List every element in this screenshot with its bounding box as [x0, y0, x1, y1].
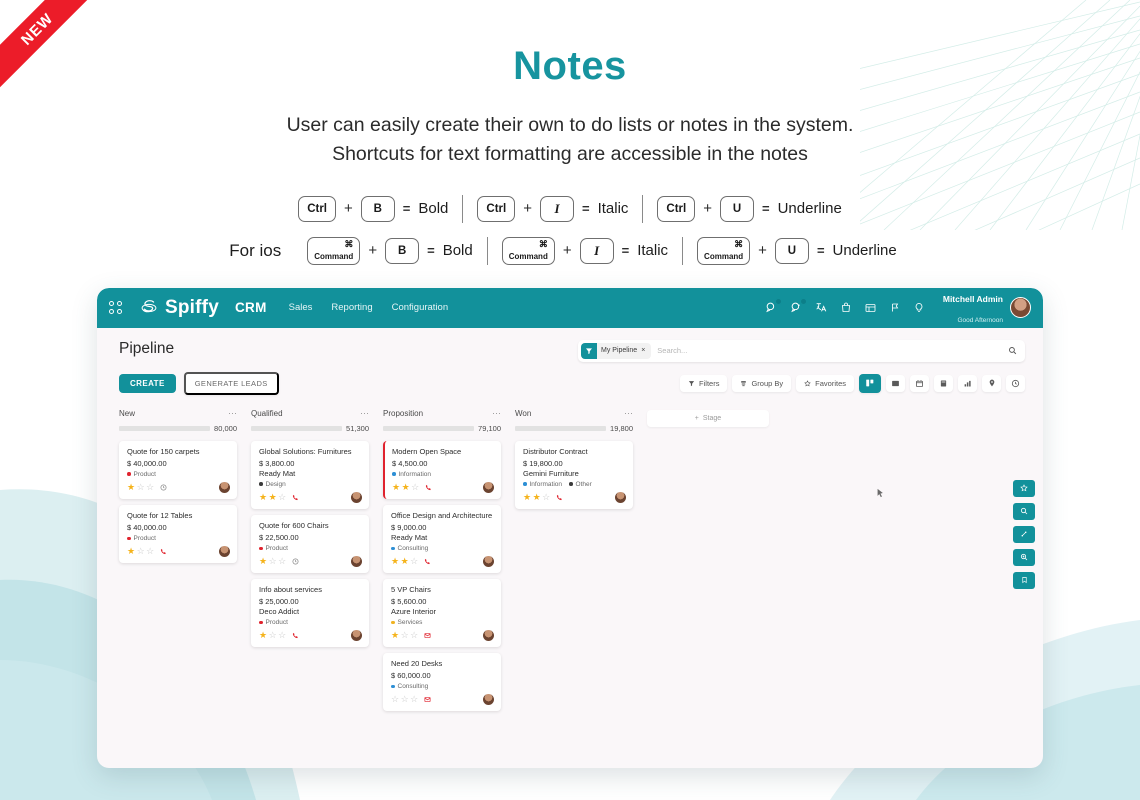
kanban-card[interactable]: Need 20 Desks $ 60,000.00 Consulting ☆☆☆	[383, 653, 501, 711]
kanban-card[interactable]: 5 VP Chairs $ 5,600.00 Azure Interior Se…	[383, 579, 501, 647]
expand-icon	[1020, 530, 1028, 538]
app-bar-actions: Mitchell Admin Good Afternoon	[765, 288, 1031, 328]
tag-label: Product	[266, 545, 288, 552]
star-icon[interactable]: ☆	[278, 631, 286, 640]
kanban-view-button[interactable]	[859, 374, 881, 393]
star-icon[interactable]: ★	[259, 493, 267, 502]
kanban-card[interactable]: Modern Open Space $ 4,500.00 Information…	[383, 441, 501, 499]
activity-phone-icon[interactable]	[292, 632, 299, 639]
column-cards: Modern Open Space $ 4,500.00 Information…	[383, 441, 501, 712]
star-icon[interactable]: ☆	[401, 631, 409, 640]
kanban-card[interactable]: Distributor Contract $ 19,800.00 Gemini …	[515, 441, 633, 509]
column-progress: 79,100	[383, 424, 501, 433]
page-subtitle-line-2: Shortcuts for text formatting are access…	[0, 140, 1140, 169]
column-total: 19,800	[610, 424, 633, 433]
avatar[interactable]	[483, 630, 494, 641]
tag-dot-icon	[127, 472, 131, 476]
card-tag: Product	[259, 545, 288, 552]
priority-stars[interactable]: ☆☆☆	[391, 695, 418, 704]
shortcut-italic-windows: Ctrl + I = Italic	[463, 196, 642, 222]
column-name: Proposition	[383, 409, 423, 418]
column-header: Won ⋯	[515, 409, 633, 418]
tag-label: Product	[134, 535, 156, 542]
favorites-button[interactable]: Favorites	[796, 375, 854, 392]
search-facet-my-pipeline[interactable]: My Pipeline ×	[581, 343, 651, 359]
shortcut-bold-windows: Ctrl + B = Bold	[284, 196, 462, 222]
user-text: Mitchell Admin Good Afternoon	[943, 288, 1003, 328]
activity-mail-icon[interactable]	[424, 696, 431, 703]
key-command-label: Command	[509, 252, 548, 261]
star-icon[interactable]: ☆	[278, 493, 286, 502]
translate-icon[interactable]	[815, 301, 828, 314]
tag-dot-icon	[391, 621, 395, 625]
card-partner: Ready Mat	[259, 469, 362, 478]
graph-view-button[interactable]	[958, 375, 977, 392]
column-menu-icon[interactable]: ⋯	[492, 409, 501, 418]
flag-icon[interactable]	[889, 301, 901, 314]
card-footer: ★★☆	[523, 492, 626, 503]
card-tags: Product	[259, 545, 362, 552]
shortcut-result-underline: Underline	[833, 242, 897, 259]
star-icon[interactable]: ★	[127, 547, 135, 556]
shortcut-result-bold: Bold	[418, 200, 448, 217]
brand-logo[interactable]: Spiffy	[138, 297, 219, 319]
star-icon[interactable]: ☆	[391, 695, 399, 704]
star-icon[interactable]: ★	[401, 557, 409, 566]
star-icon[interactable]: ★	[269, 493, 277, 502]
card-footer: ★☆☆	[259, 556, 362, 567]
search-icon	[1020, 507, 1028, 515]
kanban-board: New ⋯ 80,000 Quote for 150 carpets $ 40,…	[119, 409, 1025, 712]
search-icon[interactable]	[1008, 346, 1017, 355]
shortcut-underline-ios: ⌘ Command + U = Underline	[683, 237, 911, 265]
column-total: 79,100	[478, 424, 501, 433]
tag-dot-icon	[523, 482, 527, 486]
menu-item-configuration[interactable]: Configuration	[392, 302, 449, 313]
star-icon[interactable]: ☆	[269, 557, 277, 566]
card-tag: Design	[259, 481, 286, 488]
apps-grid-icon[interactable]	[109, 301, 124, 314]
star-icon[interactable]: ☆	[410, 695, 418, 704]
tag-label: Consulting	[398, 545, 429, 552]
page-header: Notes User can easily create their own t…	[0, 0, 1140, 170]
activity-mail-icon[interactable]	[424, 632, 431, 639]
menu-item-reporting[interactable]: Reporting	[331, 302, 372, 313]
tag-label: Other	[576, 481, 592, 488]
kanban-column-won: Won ⋯ 19,800 Distributor Contract $ 19,8…	[515, 409, 633, 509]
shortcut-row-windows: Ctrl + B = Bold Ctrl + I = Italic Ctrl +…	[0, 188, 1140, 230]
star-icon[interactable]: ★	[391, 631, 399, 640]
activities-icon[interactable]	[790, 301, 803, 314]
card-amount: $ 9,000.00	[391, 523, 494, 532]
card-amount: $ 40,000.00	[127, 523, 230, 532]
create-button[interactable]: CREATE	[119, 374, 176, 393]
add-stage-label: Stage	[703, 415, 721, 422]
card-footer: ★☆☆	[391, 630, 494, 641]
card-partner: Gemini Furniture	[523, 469, 626, 478]
card-title: Modern Open Space	[392, 447, 494, 457]
view-toolbar: Filters Group By Favorites	[680, 374, 1025, 393]
rail-search-button[interactable]	[1013, 503, 1035, 520]
equals-sign: =	[817, 243, 825, 258]
tag-dot-icon	[259, 621, 263, 625]
tag-label: Information	[530, 481, 563, 488]
rail-bookmark-button[interactable]	[1013, 572, 1035, 589]
activity-view-button[interactable]	[1006, 375, 1025, 392]
priority-stars[interactable]: ★★☆	[259, 493, 286, 502]
list-view-button[interactable]	[886, 375, 905, 392]
column-header: Proposition ⋯	[383, 409, 501, 418]
rail-zoom-button[interactable]	[1013, 549, 1035, 566]
card-tag: Consulting	[391, 683, 428, 690]
plus-sign: +	[703, 200, 712, 217]
card-title: Quote for 600 Chairs	[259, 521, 362, 531]
avatar[interactable]	[1010, 297, 1031, 318]
tag-label: Design	[266, 481, 286, 488]
star-icon[interactable]: ☆	[137, 483, 145, 492]
activity-clock-icon[interactable]	[160, 484, 167, 491]
clock-icon	[1011, 379, 1020, 388]
shortcut-legend: Ctrl + B = Bold Ctrl + I = Italic Ctrl +…	[0, 188, 1140, 272]
card-footer: ★☆☆	[259, 630, 362, 641]
app-top-bar: Spiffy CRM Sales Reporting Configuration	[97, 288, 1043, 328]
badge	[800, 298, 807, 305]
key-command: ⌘ Command	[307, 237, 360, 265]
star-icon[interactable]: ★	[392, 483, 400, 492]
key-b: B	[361, 196, 395, 222]
star-icon[interactable]: ★	[259, 631, 267, 640]
card-amount: $ 60,000.00	[391, 671, 494, 680]
shortcut-result-underline: Underline	[778, 200, 842, 217]
calendar-view-button[interactable]	[910, 375, 929, 392]
card-amount: $ 25,000.00	[259, 597, 362, 606]
equals-sign: =	[622, 243, 630, 258]
app-window: Spiffy CRM Sales Reporting Configuration	[97, 288, 1043, 768]
favorites-label: Favorites	[815, 379, 846, 388]
column-cards: Global Solutions: Furnitures $ 3,800.00 …	[251, 441, 369, 647]
plus-sign: +	[523, 200, 532, 217]
key-i: I	[540, 196, 574, 222]
priority-stars[interactable]: ★☆☆	[259, 631, 286, 640]
rail-expand-button[interactable]	[1013, 526, 1035, 543]
new-ribbon: NEW	[0, 0, 92, 92]
star-icon[interactable]: ★	[259, 557, 267, 566]
map-view-button[interactable]	[982, 375, 1001, 392]
card-tag: Consulting	[391, 545, 428, 552]
column-total: 51,300	[346, 424, 369, 433]
star-icon[interactable]: ☆	[137, 547, 145, 556]
priority-stars[interactable]: ★★☆	[523, 493, 550, 502]
card-title: 5 VP Chairs	[391, 585, 494, 595]
key-ctrl: Ctrl	[657, 196, 695, 222]
avatar[interactable]	[351, 492, 362, 503]
shortcut-result-italic: Italic	[637, 242, 668, 259]
card-footer: ☆☆☆	[391, 694, 494, 705]
generate-leads-button[interactable]: GENERATE LEADS	[184, 372, 279, 395]
shortcut-row-ios: For ios ⌘ Command + B = Bold ⌘ Command +…	[0, 230, 1140, 272]
plus-sign: +	[563, 242, 572, 259]
column-cards: Distributor Contract $ 19,800.00 Gemini …	[515, 441, 633, 509]
user-menu[interactable]: Mitchell Admin Good Afternoon	[943, 288, 1031, 328]
plus-icon: +	[695, 415, 699, 422]
card-amount: $ 4,500.00	[392, 459, 494, 468]
plus-sign: +	[344, 200, 353, 217]
menu-item-sales[interactable]: Sales	[289, 302, 313, 313]
priority-stars[interactable]: ★☆☆	[127, 547, 154, 556]
avatar[interactable]	[351, 556, 362, 567]
filters-button[interactable]: Filters	[680, 375, 727, 392]
kanban-card[interactable]: Info about services $ 25,000.00 Deco Add…	[251, 579, 369, 647]
kanban-card[interactable]: Global Solutions: Furnitures $ 3,800.00 …	[251, 441, 369, 509]
grid-view-icon[interactable]	[864, 302, 877, 314]
progress-track	[383, 426, 474, 431]
card-footer: ★★☆	[392, 482, 494, 493]
priority-stars[interactable]: ★☆☆	[127, 483, 154, 492]
group-by-button[interactable]: Group By	[732, 375, 791, 392]
card-tag: Information	[523, 481, 562, 488]
tag-dot-icon	[392, 472, 396, 476]
ios-prefix-label: For ios	[229, 241, 281, 261]
key-command-label: Command	[704, 252, 743, 261]
star-icon[interactable]: ★	[523, 493, 531, 502]
card-footer: ★☆☆	[127, 482, 230, 493]
card-tags: Information Other	[523, 481, 626, 488]
kanban-icon	[865, 378, 875, 388]
equals-sign: =	[427, 243, 435, 258]
card-amount: $ 19,800.00	[523, 459, 626, 468]
card-tags: Consulting	[391, 545, 494, 552]
tag-label: Consulting	[398, 683, 429, 690]
badge	[775, 298, 782, 305]
activity-phone-icon[interactable]	[556, 494, 563, 501]
card-amount: $ 5,600.00	[391, 597, 494, 606]
app-menu: Sales Reporting Configuration	[289, 302, 448, 313]
equals-sign: =	[582, 201, 590, 216]
facet-remove-icon[interactable]: ×	[641, 347, 645, 354]
star-icon[interactable]: ☆	[278, 557, 286, 566]
star-icon[interactable]: ☆	[410, 557, 418, 566]
key-ctrl: Ctrl	[298, 196, 336, 222]
kanban-card[interactable]: Quote for 150 carpets $ 40,000.00 Produc…	[119, 441, 237, 499]
card-tags: Product	[127, 471, 230, 478]
plus-sign: +	[368, 242, 377, 259]
card-amount: $ 3,800.00	[259, 459, 362, 468]
card-partner: Ready Mat	[391, 533, 494, 542]
search-input[interactable]: Search...	[657, 346, 1008, 355]
column-total: 80,000	[214, 424, 237, 433]
plus-sign: +	[758, 242, 767, 259]
action-toolbar-row: CREATE GENERATE LEADS Filters Group By F…	[119, 372, 1025, 395]
progress-track	[515, 426, 606, 431]
card-tags: Information	[392, 471, 494, 478]
tag-label: Services	[398, 619, 423, 626]
tag-dot-icon	[259, 547, 263, 551]
side-action-rail	[1013, 480, 1035, 589]
avatar[interactable]	[351, 630, 362, 641]
pivot-view-button[interactable]	[934, 375, 953, 392]
star-icon[interactable]: ★	[391, 557, 399, 566]
column-menu-icon[interactable]: ⋯	[228, 409, 237, 418]
card-footer: ★★☆	[391, 556, 494, 567]
card-tag: Services	[391, 619, 422, 626]
key-command: ⌘ Command	[697, 237, 750, 265]
card-title: Quote for 150 carpets	[127, 447, 230, 457]
mouse-cursor	[877, 488, 884, 500]
kanban-column-new: New ⋯ 80,000 Quote for 150 carpets $ 40,…	[119, 409, 237, 563]
activity-phone-icon[interactable]	[160, 548, 167, 555]
priority-stars[interactable]: ★☆☆	[259, 557, 286, 566]
activity-phone-icon[interactable]	[292, 494, 299, 501]
card-footer: ★☆☆	[127, 546, 230, 557]
column-menu-icon[interactable]: ⋯	[360, 409, 369, 418]
app-body: Pipeline My Pipeline × Search... CR	[97, 328, 1043, 768]
column-menu-icon[interactable]: ⋯	[624, 409, 633, 418]
shopping-bag-icon[interactable]	[840, 301, 852, 314]
tag-label: Product	[134, 471, 156, 478]
column-name: Won	[515, 409, 531, 418]
lightbulb-icon[interactable]	[913, 301, 925, 314]
tag-label: Product	[266, 619, 288, 626]
shortcut-result-italic: Italic	[598, 200, 629, 217]
kanban-card[interactable]: Quote for 600 Chairs $ 22,500.00 Product…	[251, 515, 369, 573]
rail-star-button[interactable]	[1013, 480, 1035, 497]
command-glyph-icon: ⌘	[344, 239, 353, 250]
command-glyph-icon: ⌘	[734, 239, 743, 250]
brand-name: Spiffy	[165, 297, 219, 319]
card-footer: ★★☆	[259, 492, 362, 503]
card-amount: $ 40,000.00	[127, 459, 230, 468]
card-tag: Product	[259, 619, 288, 626]
bookmark-icon	[1021, 576, 1028, 584]
equals-sign: =	[762, 201, 770, 216]
avatar[interactable]	[483, 694, 494, 705]
card-tags: Product	[127, 535, 230, 542]
page-title: Notes	[0, 44, 1140, 89]
star-icon[interactable]: ★	[533, 493, 541, 502]
add-stage-column: + Stage	[647, 409, 769, 427]
messages-icon[interactable]	[765, 301, 778, 314]
star-icon[interactable]: ☆	[269, 631, 277, 640]
shortcut-result-bold: Bold	[443, 242, 473, 259]
add-stage-button[interactable]: + Stage	[647, 410, 769, 427]
tag-dot-icon	[391, 547, 395, 551]
progress-track	[119, 426, 210, 431]
tag-dot-icon	[391, 685, 395, 689]
search-bar[interactable]: My Pipeline × Search...	[578, 340, 1025, 362]
calendar-icon	[915, 379, 924, 388]
column-header: New ⋯	[119, 409, 237, 418]
card-tag: Product	[127, 471, 156, 478]
avatar[interactable]	[219, 546, 230, 557]
priority-stars[interactable]: ★☆☆	[391, 631, 418, 640]
shortcut-italic-ios: ⌘ Command + I = Italic	[488, 237, 682, 265]
progress-track	[251, 426, 342, 431]
star-icon[interactable]: ★	[127, 483, 135, 492]
filters-label: Filters	[699, 379, 719, 388]
star-icon[interactable]: ☆	[542, 493, 550, 502]
activity-clock-icon[interactable]	[292, 558, 299, 565]
filter-icon	[688, 380, 695, 387]
card-title: Office Design and Architecture	[391, 511, 494, 521]
pivot-icon	[939, 379, 948, 388]
user-greeting: Good Afternoon	[957, 317, 1003, 324]
priority-stars[interactable]: ★★☆	[391, 557, 418, 566]
star-icon	[1020, 484, 1028, 492]
star-icon[interactable]: ☆	[146, 547, 154, 556]
card-title: Global Solutions: Furnitures	[259, 447, 362, 457]
kanban-column-proposition: Proposition ⋯ 79,100 Modern Open Space $…	[383, 409, 501, 712]
activity-phone-icon[interactable]	[424, 558, 431, 565]
map-pin-icon	[988, 378, 996, 388]
group-by-label: Group By	[751, 379, 783, 388]
card-tags: Product	[259, 619, 362, 626]
card-partner: Deco Addict	[259, 607, 362, 616]
page-subtitle-line-1: User can easily create their own to do l…	[0, 111, 1140, 140]
new-ribbon-label: NEW	[0, 0, 92, 92]
key-i: I	[580, 238, 614, 264]
filter-icon	[581, 343, 597, 359]
column-name: Qualified	[251, 409, 283, 418]
group-by-icon	[740, 380, 747, 387]
user-name: Mitchell Admin	[943, 294, 1003, 304]
equals-sign: =	[403, 201, 411, 216]
key-u: U	[775, 238, 809, 264]
card-tag: Product	[127, 535, 156, 542]
spiffy-logo-icon	[138, 297, 160, 319]
star-icon[interactable]: ☆	[411, 483, 419, 492]
avatar[interactable]	[219, 482, 230, 493]
shortcut-underline-windows: Ctrl + U = Underline	[643, 196, 855, 222]
star-icon	[804, 380, 811, 387]
kanban-card[interactable]: Office Design and Architecture $ 9,000.0…	[383, 505, 501, 573]
key-b: B	[385, 238, 419, 264]
card-tags: Consulting	[391, 683, 494, 690]
star-icon[interactable]: ☆	[146, 483, 154, 492]
page-subtitle: User can easily create their own to do l…	[0, 111, 1140, 170]
column-cards: Quote for 150 carpets $ 40,000.00 Produc…	[119, 441, 237, 563]
avatar[interactable]	[615, 492, 626, 503]
card-amount: $ 22,500.00	[259, 533, 362, 542]
card-title: Quote for 12 Tables	[127, 511, 230, 521]
priority-stars[interactable]: ★★☆	[392, 483, 419, 492]
page-title: Pipeline	[119, 340, 174, 358]
column-header: Qualified ⋯	[251, 409, 369, 418]
module-name: CRM	[235, 300, 267, 315]
view-header-row: Pipeline My Pipeline × Search...	[119, 340, 1025, 362]
card-title: Info about services	[259, 585, 362, 595]
card-title: Distributor Contract	[523, 447, 626, 457]
column-progress: 19,800	[515, 424, 633, 433]
star-icon[interactable]: ☆	[410, 631, 418, 640]
avatar[interactable]	[483, 482, 494, 493]
shortcut-bold-ios: ⌘ Command + B = Bold	[293, 237, 487, 265]
star-icon[interactable]: ☆	[401, 695, 409, 704]
card-tag: Other	[569, 481, 592, 488]
key-command-label: Command	[314, 252, 353, 261]
avatar[interactable]	[483, 556, 494, 567]
kanban-card[interactable]: Quote for 12 Tables $ 40,000.00 Product …	[119, 505, 237, 563]
tag-dot-icon	[259, 482, 263, 486]
card-title: Need 20 Desks	[391, 659, 494, 669]
activity-phone-icon[interactable]	[425, 484, 432, 491]
command-glyph-icon: ⌘	[539, 239, 548, 250]
star-icon[interactable]: ★	[402, 483, 410, 492]
card-tags: Services	[391, 619, 494, 626]
card-partner: Azure Interior	[391, 607, 494, 616]
zoom-icon	[1020, 553, 1028, 561]
card-tag: Information	[392, 471, 431, 478]
key-u: U	[720, 196, 754, 222]
